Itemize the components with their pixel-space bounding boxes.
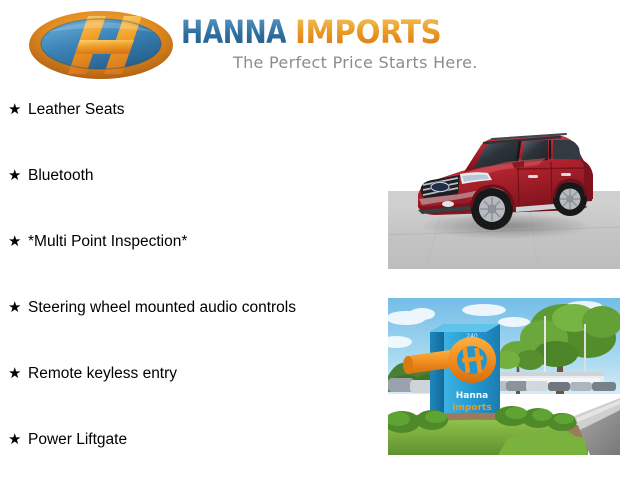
- svg-text:Hanna: Hanna: [456, 391, 489, 401]
- brand-logo[interactable]: HANNAIMPORTS The Perfect Price Starts He…: [28, 6, 528, 86]
- star-bullet-icon: ★: [8, 364, 28, 384]
- dealership-photo[interactable]: 240 Hanna Imports: [388, 298, 620, 455]
- hanna-h-oval-emblem-icon: [28, 10, 174, 80]
- svg-text:Imports: Imports: [452, 403, 491, 413]
- list-item: ★ Power Liftgate: [0, 430, 380, 480]
- list-item-label: Steering wheel mounted audio controls: [28, 298, 296, 318]
- star-bullet-icon: ★: [8, 100, 28, 120]
- list-item: ★ Bluetooth: [0, 166, 380, 232]
- star-bullet-icon: ★: [8, 430, 28, 450]
- list-item: ★ Steering wheel mounted audio controls: [0, 298, 380, 364]
- brand-wordmark: HANNAIMPORTS: [181, 14, 454, 50]
- star-bullet-icon: ★: [8, 232, 28, 252]
- star-bullet-icon: ★: [8, 298, 28, 318]
- list-item-label: Remote keyless entry: [28, 364, 177, 384]
- vehicle-features-list: ★ Leather Seats ★ Bluetooth ★ *Multi Poi…: [0, 100, 380, 480]
- star-bullet-icon: ★: [8, 166, 28, 186]
- brand-wordmark-imports: IMPORTS: [295, 14, 441, 50]
- list-item-label: Bluetooth: [28, 166, 94, 186]
- vehicle-photo[interactable]: [388, 95, 620, 269]
- list-item-label: *Multi Point Inspection*: [28, 232, 187, 252]
- list-item: ★ Remote keyless entry: [0, 364, 380, 430]
- list-item-label: Power Liftgate: [28, 430, 127, 450]
- brand-wordmark-hanna: HANNA: [181, 14, 286, 50]
- list-item: ★ *Multi Point Inspection*: [0, 232, 380, 298]
- list-item: ★ Leather Seats: [0, 100, 380, 166]
- page-header: HANNAIMPORTS The Perfect Price Starts He…: [0, 0, 640, 95]
- list-item-label: Leather Seats: [28, 100, 125, 120]
- brand-tagline: The Perfect Price Starts Here.: [233, 53, 478, 72]
